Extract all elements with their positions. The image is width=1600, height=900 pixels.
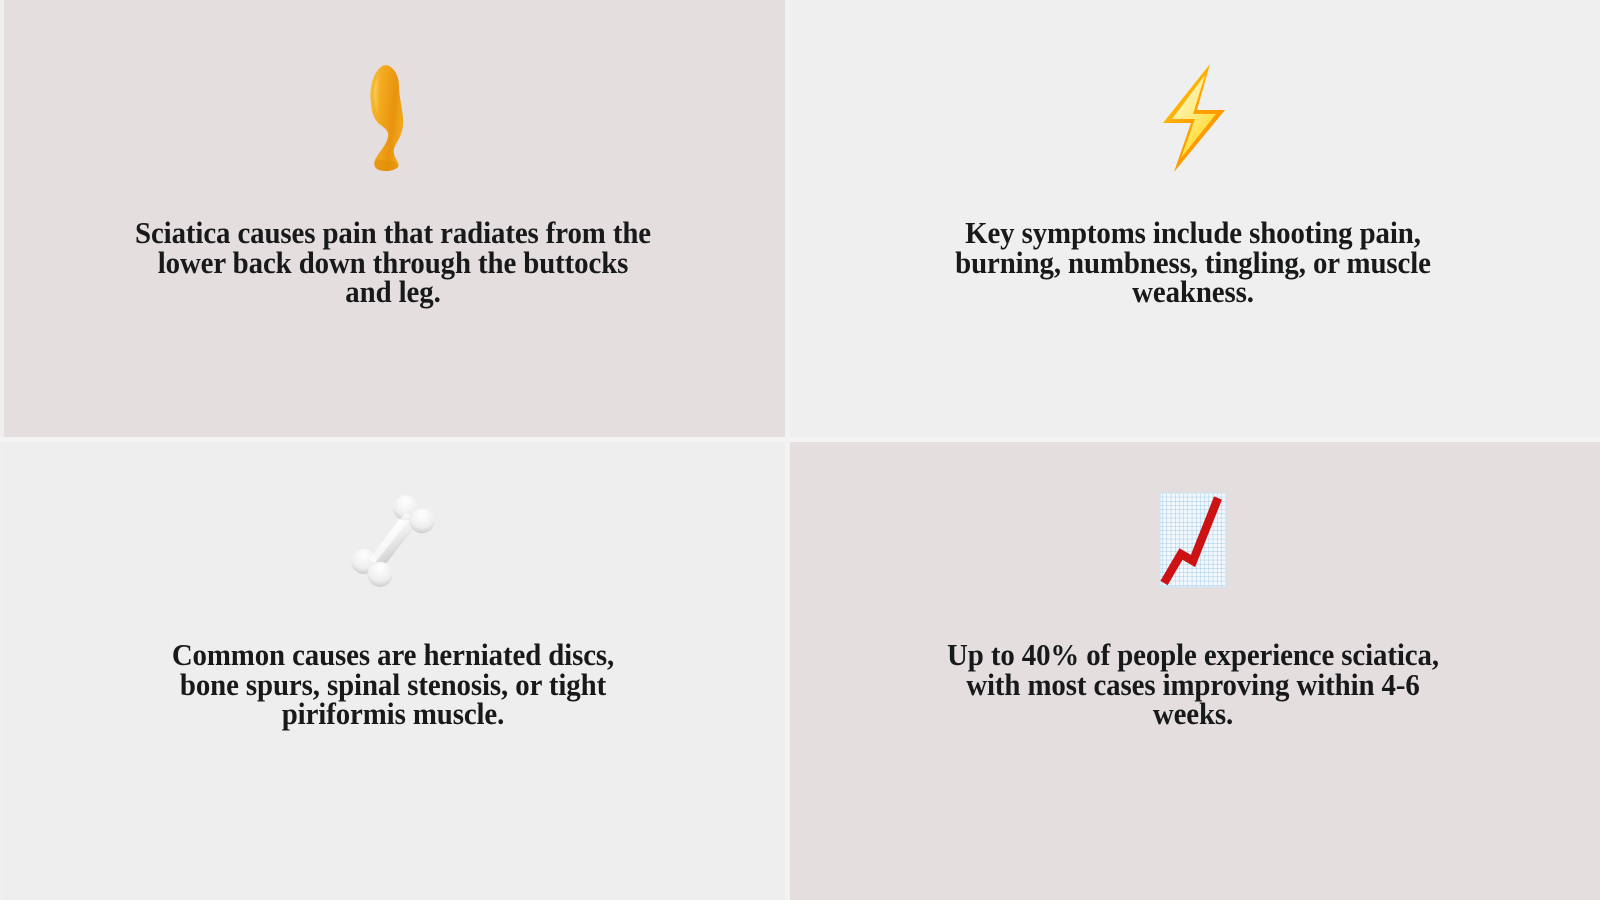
fact-card-prevalence-and-recovery: Up to 40% of people experience sciatica,… <box>785 440 1600 900</box>
card-caption: Up to 40% of people experience sciatica,… <box>923 600 1462 729</box>
fact-card-radiating-pain: Sciatica causes pain that radiates from … <box>0 0 785 440</box>
card-caption: Key symptoms include shooting pain, burn… <box>923 178 1462 307</box>
card-content: Common causes are herniated discs, bone … <box>0 480 785 729</box>
high-voltage-emoji <box>785 58 1600 178</box>
fact-card-key-symptoms: Key symptoms include shooting pain, burn… <box>785 0 1600 440</box>
fact-grid: Sciatica causes pain that radiates from … <box>0 0 1600 900</box>
fact-card-common-causes: Common causes are herniated discs, bone … <box>0 440 785 900</box>
card-content: Up to 40% of people experience sciatica,… <box>785 480 1600 729</box>
card-caption: Common causes are herniated discs, bone … <box>141 600 643 729</box>
leg-emoji <box>0 58 785 178</box>
chart-increasing-emoji <box>785 480 1600 600</box>
bone-emoji <box>0 480 785 600</box>
card-caption: Sciatica causes pain that radiates from … <box>132 178 653 307</box>
card-content: Sciatica causes pain that radiates from … <box>0 58 785 307</box>
card-content: Key symptoms include shooting pain, burn… <box>785 58 1600 307</box>
